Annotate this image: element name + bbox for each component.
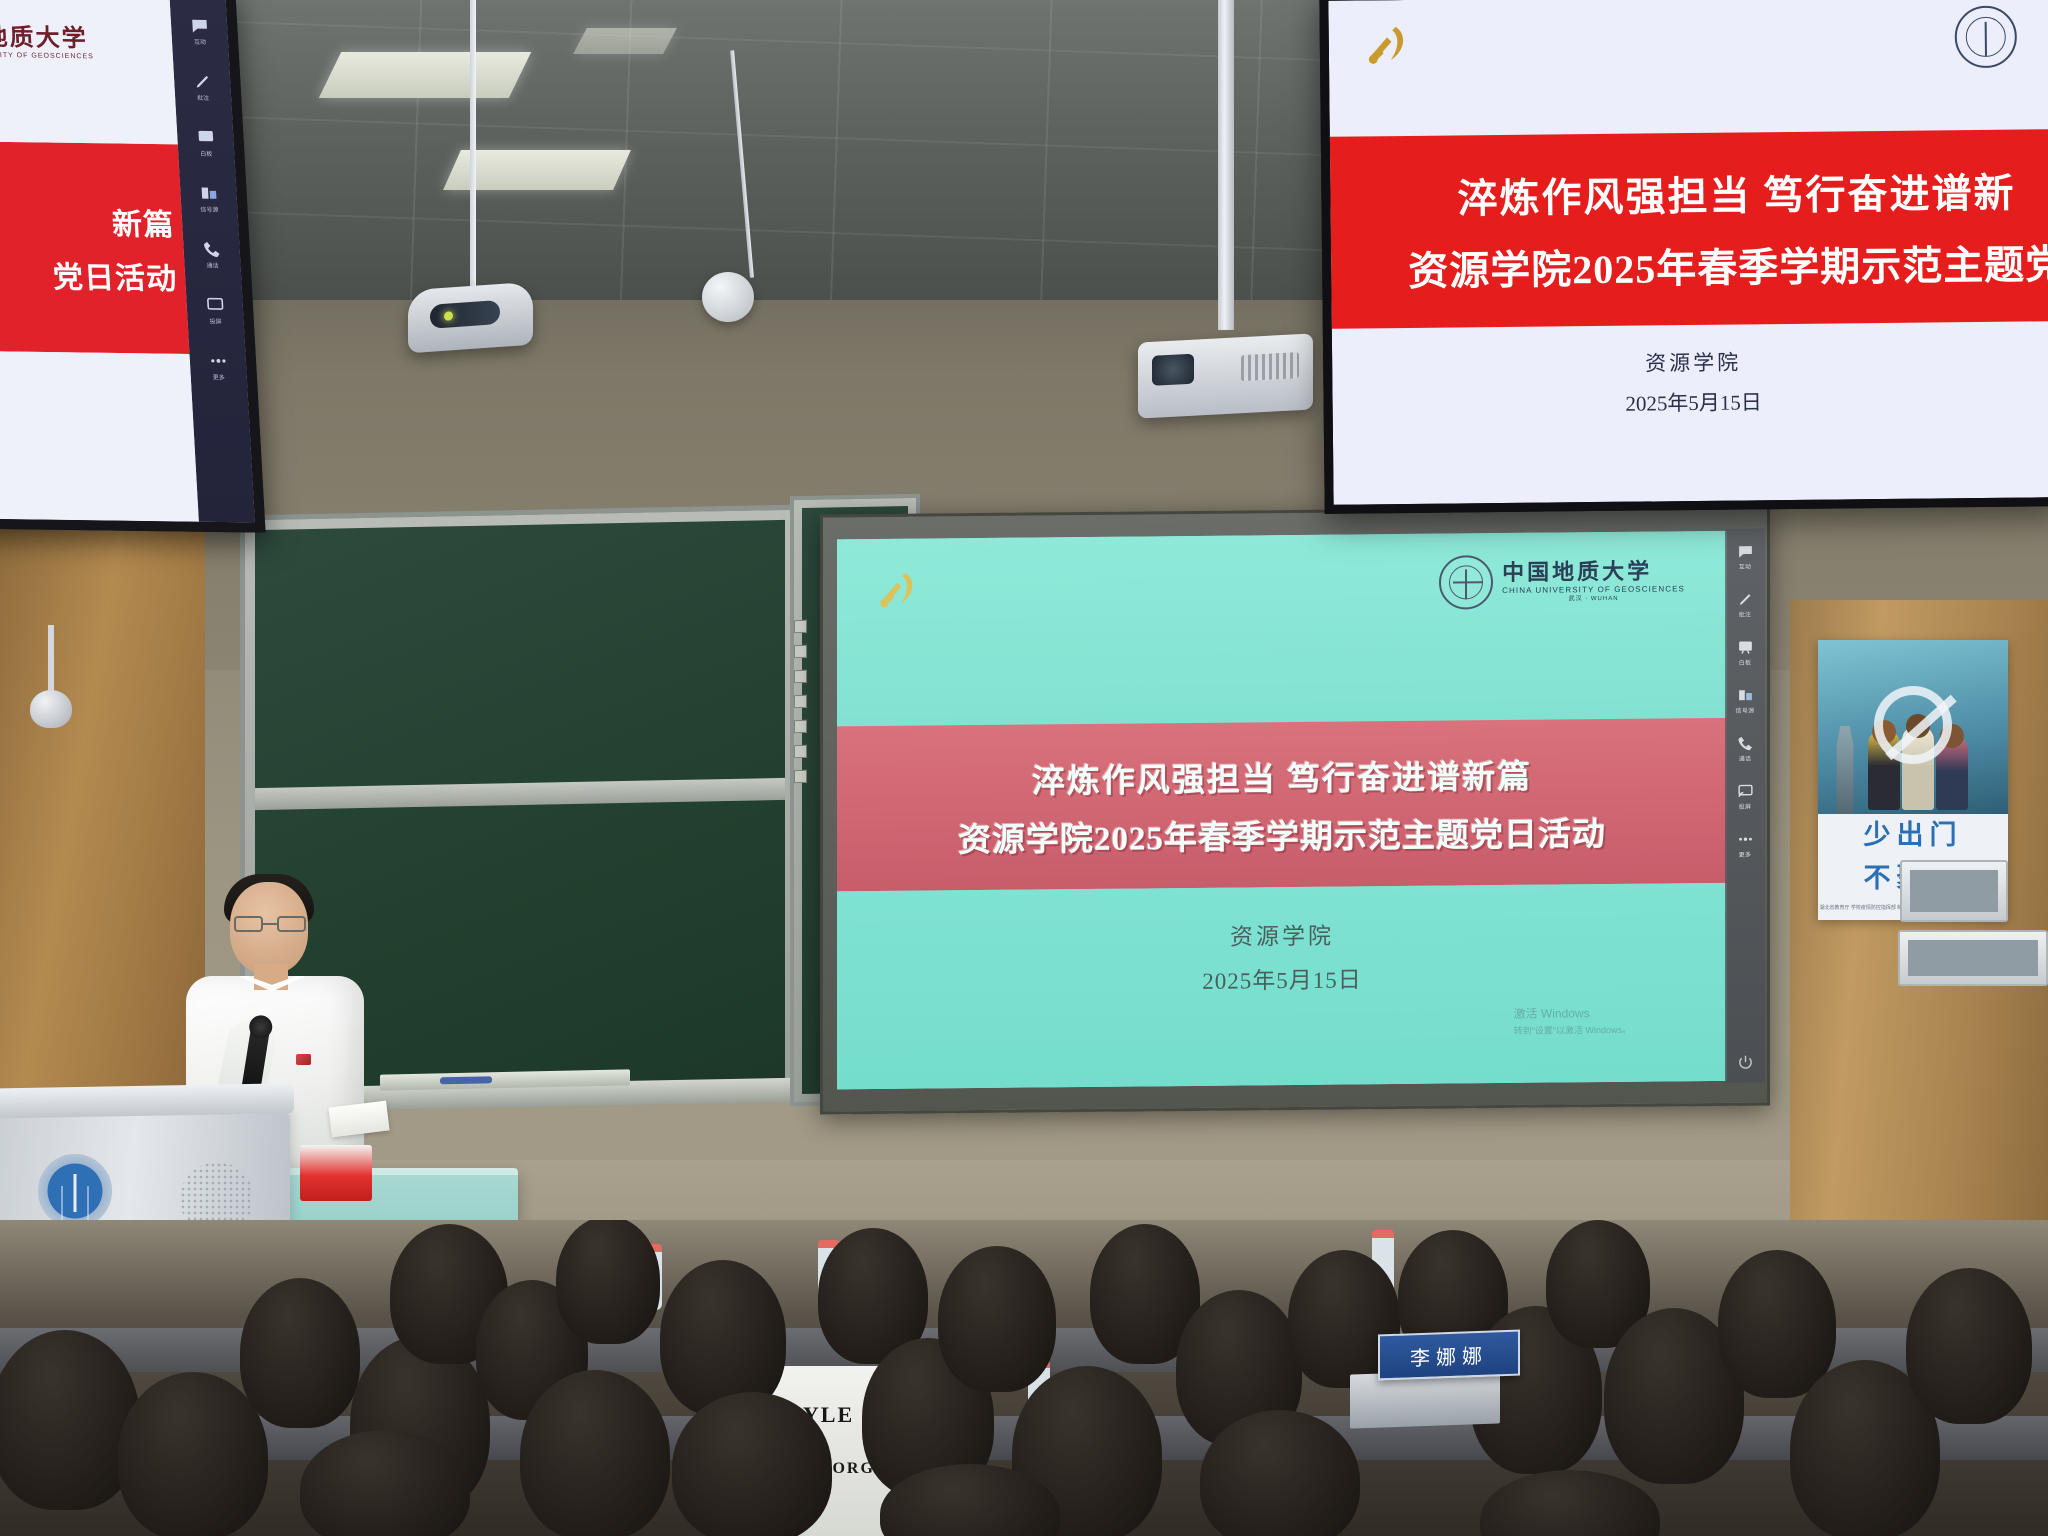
right-slide-footer: 资源学院 2025年5月15日 bbox=[1332, 321, 2048, 505]
left-slide-title-line1: 新篇 bbox=[111, 199, 176, 244]
poster-line1: 少出门 bbox=[1864, 813, 1963, 852]
right-slide-title-line2: 资源学院2025年春季学期示范主题党 bbox=[1408, 232, 2048, 297]
toolbar-item-cast[interactable]: 投屏 bbox=[205, 295, 226, 325]
board-control-button[interactable] bbox=[794, 645, 807, 658]
chat-icon bbox=[1737, 543, 1754, 560]
projection-surface: 中国地质大学 CHINA UNIVERSITY OF GEOSCIENCES 武… bbox=[837, 531, 1727, 1090]
projector-device bbox=[1138, 333, 1313, 418]
toolbar-item-whiteboard[interactable]: 白板 bbox=[1737, 639, 1754, 667]
left-slide-band: 新篇 党日活动 bbox=[0, 141, 189, 354]
toolbar-label: 投屏 bbox=[1739, 802, 1752, 811]
poster-tower-shape bbox=[1830, 726, 1860, 814]
left-monitor-display: 中国地质大学 CHINA UNIVERSITY OF GEOSCIENCES 新… bbox=[0, 0, 255, 523]
slide-title-line2: 资源学院2025年春季学期示范主题党日活动 bbox=[958, 807, 1606, 861]
right-slide-header bbox=[1328, 0, 2048, 137]
university-name-en: CHINA UNIVERSITY OF GEOSCIENCES bbox=[0, 51, 94, 60]
toolbar-item-more[interactable]: 更多 bbox=[208, 351, 229, 381]
seal-cross-icon bbox=[1453, 581, 1483, 583]
board-control-button[interactable] bbox=[794, 770, 807, 783]
lecture-hall-photo: 中国地质大学 CHINA UNIVERSITY OF GEOSCIENCES 武… bbox=[0, 0, 2048, 1536]
toolbar-label: 通话 bbox=[1739, 754, 1752, 763]
camera-lens-icon bbox=[430, 300, 500, 329]
toolbar-item-more[interactable]: 更多 bbox=[1737, 831, 1754, 859]
source-icon bbox=[1737, 687, 1754, 704]
toolbar-label: 信号源 bbox=[200, 205, 219, 214]
toolbar-label: 互动 bbox=[194, 37, 207, 46]
audience-head bbox=[1718, 1250, 1836, 1398]
right-slide-date: 2025年5月15日 bbox=[1625, 386, 1762, 417]
slide-title-line1: 淬炼作风强担当 笃行奋进谱新篇 bbox=[1032, 749, 1532, 802]
right-wall-monitor[interactable]: 淬炼作风强担当 笃行奋进谱新 资源学院2025年春季学期示范主题党 资源学院 2… bbox=[1319, 0, 2048, 514]
audience-head bbox=[938, 1246, 1056, 1392]
marker-pen[interactable] bbox=[440, 1076, 492, 1084]
wall-control-panel[interactable] bbox=[1900, 860, 2008, 922]
university-logo: 中国地质大学 CHINA UNIVERSITY OF GEOSCIENCES 武… bbox=[1439, 553, 1685, 609]
right-slide-organization: 资源学院 bbox=[1645, 346, 1741, 377]
slide-header: 中国地质大学 CHINA UNIVERSITY OF GEOSCIENCES 武… bbox=[837, 531, 1727, 727]
panel-screen bbox=[1908, 940, 2038, 976]
slide-date: 2025年5月15日 bbox=[1202, 960, 1362, 996]
board-control-strip[interactable] bbox=[792, 620, 808, 950]
left-slide-footer bbox=[0, 351, 199, 522]
windows-activation-watermark: 激活 Windows 转到"设置"以激活 Windows。 bbox=[1514, 1004, 1631, 1037]
phone-icon bbox=[1737, 735, 1754, 752]
toolbar-item-cast[interactable]: 投屏 bbox=[1737, 783, 1754, 811]
poster-illustration bbox=[1818, 640, 2008, 814]
cast-icon bbox=[205, 295, 225, 314]
toolbar-label: 批注 bbox=[1739, 610, 1752, 619]
audience-head bbox=[1480, 1470, 1660, 1536]
wall-camera bbox=[30, 690, 72, 728]
projector-mount-pole bbox=[1218, 0, 1234, 330]
audience-head bbox=[118, 1372, 268, 1536]
main-projection-screen[interactable]: 中国地质大学 CHINA UNIVERSITY OF GEOSCIENCES 武… bbox=[820, 505, 1770, 1114]
board-control-button[interactable] bbox=[794, 720, 807, 733]
toolbar-label: 白板 bbox=[200, 149, 213, 158]
cast-icon bbox=[1737, 783, 1754, 800]
university-campus: 武汉 · WUHAN bbox=[1502, 595, 1685, 603]
phone-icon bbox=[202, 239, 222, 258]
party-badge bbox=[296, 1054, 311, 1065]
toolbar-item-interact[interactable]: 互动 bbox=[189, 16, 210, 46]
audience-head bbox=[240, 1278, 360, 1428]
university-name-en: CHINA UNIVERSITY OF GEOSCIENCES bbox=[1502, 585, 1685, 595]
toolbar-item-whiteboard[interactable]: 白板 bbox=[195, 128, 216, 158]
university-seal-icon bbox=[1954, 6, 2017, 69]
board-control-button[interactable] bbox=[794, 670, 807, 683]
right-monitor-display: 淬炼作风强担当 笃行奋进谱新 资源学院2025年春季学期示范主题党 资源学院 2… bbox=[1328, 0, 2048, 505]
slide-organization: 资源学院 bbox=[1230, 917, 1334, 952]
university-seal-icon bbox=[38, 1154, 112, 1228]
university-logo: 中国地质大学 CHINA UNIVERSITY OF GEOSCIENCES bbox=[0, 16, 94, 60]
ceiling-light-panel bbox=[319, 52, 531, 98]
podium-top-surface bbox=[0, 1083, 294, 1119]
toolbar-label: 批注 bbox=[197, 93, 210, 102]
wood-panel-left bbox=[0, 470, 205, 1170]
board-control-button[interactable] bbox=[794, 620, 807, 633]
toolbar-label: 更多 bbox=[213, 372, 226, 381]
whiteboard-icon bbox=[1737, 639, 1754, 656]
university-name-cn: 中国地质大学 bbox=[0, 16, 94, 53]
toolbar-item-annotate[interactable]: 批注 bbox=[1737, 591, 1754, 619]
audience-head bbox=[520, 1370, 670, 1536]
source-icon bbox=[198, 184, 218, 203]
more-icon bbox=[1737, 831, 1754, 848]
toolbar-item-call[interactable]: 通话 bbox=[1737, 735, 1754, 763]
audience-head bbox=[1906, 1268, 2032, 1424]
right-slide-title-line1: 淬炼作风强担当 笃行奋进谱新 bbox=[1457, 160, 2016, 224]
projector-vent bbox=[1241, 352, 1299, 381]
presentation-slide: 中国地质大学 CHINA UNIVERSITY OF GEOSCIENCES 武… bbox=[837, 531, 1727, 1090]
left-slide-title-line2: 党日活动 bbox=[52, 252, 179, 298]
pen-icon bbox=[192, 72, 212, 91]
toolbar-item-source[interactable]: 信号源 bbox=[1736, 687, 1755, 715]
audience-head bbox=[556, 1220, 660, 1344]
projector-mount-pole bbox=[470, 0, 476, 300]
ceiling-light-panel bbox=[573, 28, 677, 54]
box-on-podium bbox=[300, 1145, 372, 1201]
toolbar-label: 通话 bbox=[206, 260, 219, 269]
audience-area: STYLE COREC GORG bbox=[0, 1220, 2048, 1536]
toolbar-item-source[interactable]: 信号源 bbox=[198, 184, 219, 214]
chat-icon bbox=[189, 16, 209, 35]
power-icon[interactable] bbox=[1737, 1054, 1754, 1071]
toolbar-item-annotate[interactable]: 批注 bbox=[192, 72, 213, 102]
wall-camera-arm bbox=[48, 625, 54, 697]
left-slide-header: 中国地质大学 CHINA UNIVERSITY OF GEOSCIENCES bbox=[0, 0, 178, 144]
glasses-icon bbox=[234, 916, 306, 933]
wall-control-panel[interactable] bbox=[1898, 930, 2048, 986]
toolbar-label: 投屏 bbox=[209, 316, 222, 325]
toolbar-item-call[interactable]: 通话 bbox=[202, 239, 223, 269]
university-seal-icon bbox=[1439, 555, 1493, 610]
party-emblem-icon bbox=[1361, 18, 1418, 75]
nameplate-text: 李娜娜 bbox=[1410, 1339, 1488, 1371]
toolbar-label: 互动 bbox=[1739, 562, 1752, 571]
slide-footer: 资源学院 2025年5月15日 激活 Windows 转到"设置"以激活 Win… bbox=[837, 883, 1727, 1090]
watermark-line1: 激活 Windows bbox=[1514, 1004, 1631, 1022]
desk-nameplate: 李娜娜 bbox=[1378, 1330, 1520, 1381]
watermark-line2: 转到"设置"以激活 Windows。 bbox=[1514, 1023, 1631, 1037]
more-icon bbox=[208, 351, 228, 370]
prohibition-sign-icon bbox=[1874, 686, 1952, 764]
toolbar-label: 信号源 bbox=[1736, 706, 1755, 715]
toolbar-label: 白板 bbox=[1739, 658, 1752, 667]
toolbar-label: 更多 bbox=[1739, 850, 1752, 859]
pen-icon bbox=[1737, 591, 1754, 608]
board-control-button[interactable] bbox=[794, 695, 807, 708]
left-wall-monitor[interactable]: 中国地质大学 CHINA UNIVERSITY OF GEOSCIENCES 新… bbox=[0, 0, 266, 533]
panel-screen bbox=[1910, 870, 1998, 912]
toolbar-item-interact[interactable]: 互动 bbox=[1737, 543, 1754, 571]
right-slide-band: 淬炼作风强担当 笃行奋进谱新 资源学院2025年春季学期示范主题党 bbox=[1330, 129, 2048, 328]
audience-head bbox=[672, 1392, 832, 1536]
ceiling-camera bbox=[408, 282, 533, 354]
hanging-microphone bbox=[702, 272, 754, 322]
slide-title-band: 淬炼作风强担当 笃行奋进谱新篇 资源学院2025年春季学期示范主题党日活动 bbox=[837, 718, 1727, 892]
university-name-cn: 中国地质大学 bbox=[1502, 559, 1685, 584]
screen-toolbar[interactable]: 互动 批注 白板 信号源 bbox=[1725, 528, 1765, 1082]
left-monitor-slide: 中国地质大学 CHINA UNIVERSITY OF GEOSCIENCES 新… bbox=[0, 0, 199, 522]
whiteboard-icon bbox=[195, 128, 215, 147]
party-emblem-icon bbox=[873, 565, 925, 617]
board-control-button[interactable] bbox=[794, 745, 807, 758]
